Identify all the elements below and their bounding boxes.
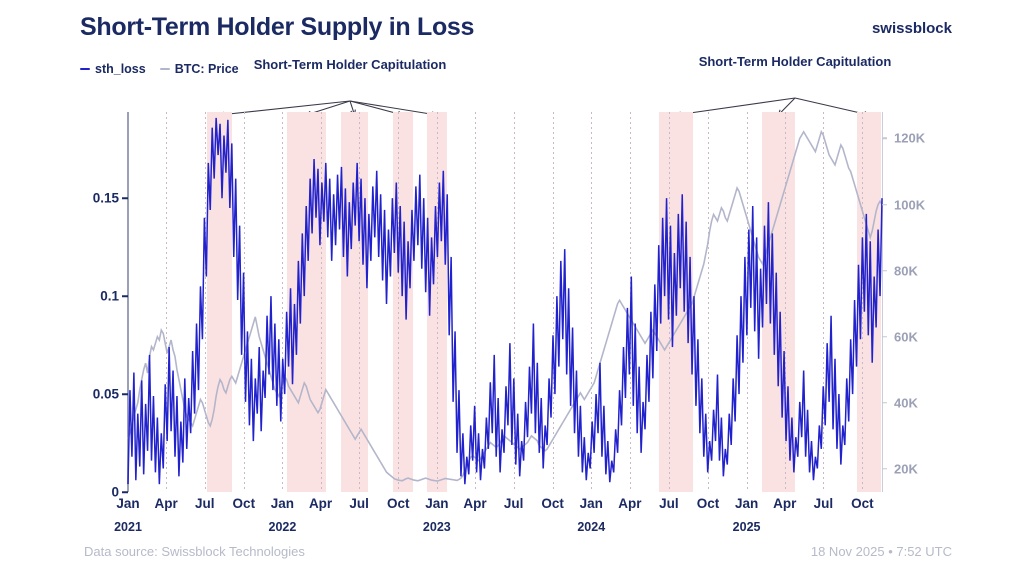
x-axis-tick-label: Jan	[425, 496, 448, 511]
x-axis-tick-label: Oct	[851, 496, 874, 511]
y-axis-right-tick-mark	[882, 204, 887, 206]
x-axis-tick-label: Oct	[541, 496, 564, 511]
y-axis-left-tick-mark	[122, 295, 128, 297]
series-line-sth-loss	[128, 118, 882, 484]
x-axis-year-label: 2023	[423, 520, 451, 534]
y-axis-right-tick-label: 20K	[894, 461, 918, 476]
y-axis-right-tick-mark	[882, 468, 887, 470]
y-axis-left-tick-label: 0.15	[93, 191, 119, 206]
x-axis-tick-label: Jul	[814, 496, 834, 511]
y-axis-left-tick-mark	[122, 491, 128, 493]
data-source-label: Data source: Swissblock Technologies	[84, 544, 305, 559]
x-axis-year-label: 2022	[269, 520, 297, 534]
y-axis-right-tick-label: 60K	[894, 329, 918, 344]
y-axis-left-tick-label: 0.1	[100, 289, 119, 304]
x-axis-tick-label: Jul	[349, 496, 369, 511]
y-axis-right-tick-label: 80K	[894, 263, 918, 278]
x-axis-tick-label: Jan	[580, 496, 603, 511]
x-axis-tick-label: Jul	[659, 496, 679, 511]
x-axis-tick-label: Apr	[463, 496, 486, 511]
y-axis-right-tick-label: 40K	[894, 395, 918, 410]
y-axis-right-tick-label: 100K	[894, 197, 925, 212]
x-axis-tick-label: Jan	[735, 496, 758, 511]
y-axis-left-tick-mark	[122, 393, 128, 395]
y-axis-right-tick-mark	[882, 270, 887, 272]
x-axis-tick-label: Apr	[618, 496, 641, 511]
plot-area: 00.050.10.15 20K40K60K80K100K120K Jan202…	[128, 112, 882, 492]
x-axis-tick-label: Jan	[116, 496, 139, 511]
x-axis-tick-label: Jan	[271, 496, 294, 511]
x-axis-year-label: 2024	[577, 520, 605, 534]
x-axis-year-label: 2025	[733, 520, 761, 534]
series-layer	[128, 112, 882, 492]
x-axis-tick-label: Apr	[155, 496, 178, 511]
y-axis-right-tick-mark	[882, 336, 887, 338]
x-axis-year-label: 2021	[114, 520, 142, 534]
x-axis-tick-label: Oct	[387, 496, 410, 511]
x-axis-tick-label: Jul	[504, 496, 524, 511]
x-axis-tick-label: Oct	[697, 496, 720, 511]
x-axis-tick-label: Oct	[233, 496, 256, 511]
x-axis-tick-label: Apr	[773, 496, 796, 511]
y-axis-left-tick-mark	[122, 197, 128, 199]
x-axis-tick-label: Apr	[309, 496, 332, 511]
y-axis-left-tick-label: 0.05	[93, 387, 119, 402]
x-axis-tick-label: Jul	[195, 496, 215, 511]
y-axis-right-tick-mark	[882, 138, 887, 140]
y-axis-right-tick-mark	[882, 402, 887, 404]
chart-canvas: Short-Term Holder Supply in Loss swissbl…	[0, 0, 1024, 576]
timestamp-label: 18 Nov 2025 • 7:52 UTC	[811, 544, 952, 559]
y-axis-right-tick-label: 120K	[894, 131, 925, 146]
